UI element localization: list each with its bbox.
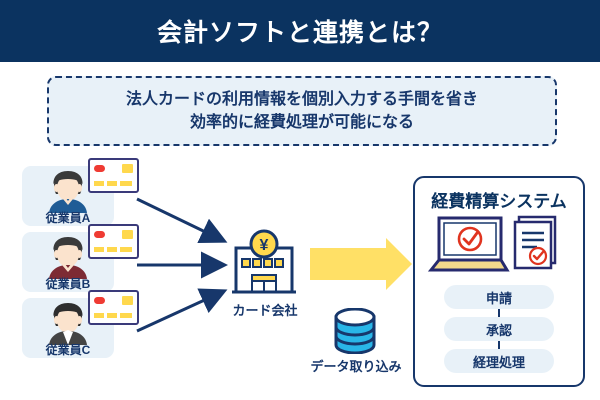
card-number-bar [120,247,132,252]
database-label: データ取り込み [288,356,424,375]
infographic-canvas: 会計ソフトと連携とは？ 法人カードの利用情報を個別入力する手間を省き 効率的に経… [0,0,600,400]
building-yen-icon: ¥ [228,228,300,300]
step-connector [498,309,500,317]
arrow-employee-c-to-cardco [137,292,222,331]
card-number-bar [94,247,104,252]
card-number-bar [107,313,117,318]
card-company-label: カード会社 [213,300,317,319]
person-avatar-icon [42,235,94,279]
card-number-bar [120,313,132,318]
credit-card-icon [88,224,139,259]
credit-card-icon [88,158,139,193]
callout-line-2: 効率的に経費処理が可能になる [190,111,414,134]
laptop-check-icon [431,218,507,270]
person-avatar-icon [42,169,94,213]
card-chip [122,230,133,239]
card-number-bar [120,181,132,186]
card-logo-dot [94,231,105,238]
system-panel-title: 経費精算システム [415,187,583,212]
callout-line-1: 法人カードの利用情報を個別入力する手間を省き [126,88,478,111]
step-pill-accounting[interactable]: 経理処理 [444,349,554,373]
card-number-bar [107,181,117,186]
step-pill-approval[interactable]: 承認 [444,317,554,341]
step-connector [498,341,500,349]
database-cylinder-icon [333,308,377,354]
credit-card-icon [88,290,139,325]
page-title: 会計ソフトと連携とは？ [157,13,443,49]
big-yellow-arrow [310,238,412,290]
card-logo-dot [94,297,105,304]
svg-text:¥: ¥ [260,237,269,254]
arrow-employee-a-to-cardco [137,199,222,240]
callout-box: 法人カードの利用情報を個別入力する手間を省き 効率的に経費処理が可能になる [47,76,557,146]
card-logo-dot [94,165,105,172]
card-number-bar [107,247,117,252]
card-number-bar [94,313,104,318]
employee-label-c: 従業員C [22,341,114,358]
system-icons-group [427,214,573,274]
expense-system-panel: 経費精算システム [413,176,585,387]
document-check-icon [515,217,555,268]
step-pill-application[interactable]: 申請 [444,285,554,309]
header-bar: 会計ソフトと連携とは？ [0,0,600,62]
card-chip [122,164,133,173]
person-avatar-icon [42,301,94,345]
card-number-bar [94,181,104,186]
card-chip [122,296,133,305]
